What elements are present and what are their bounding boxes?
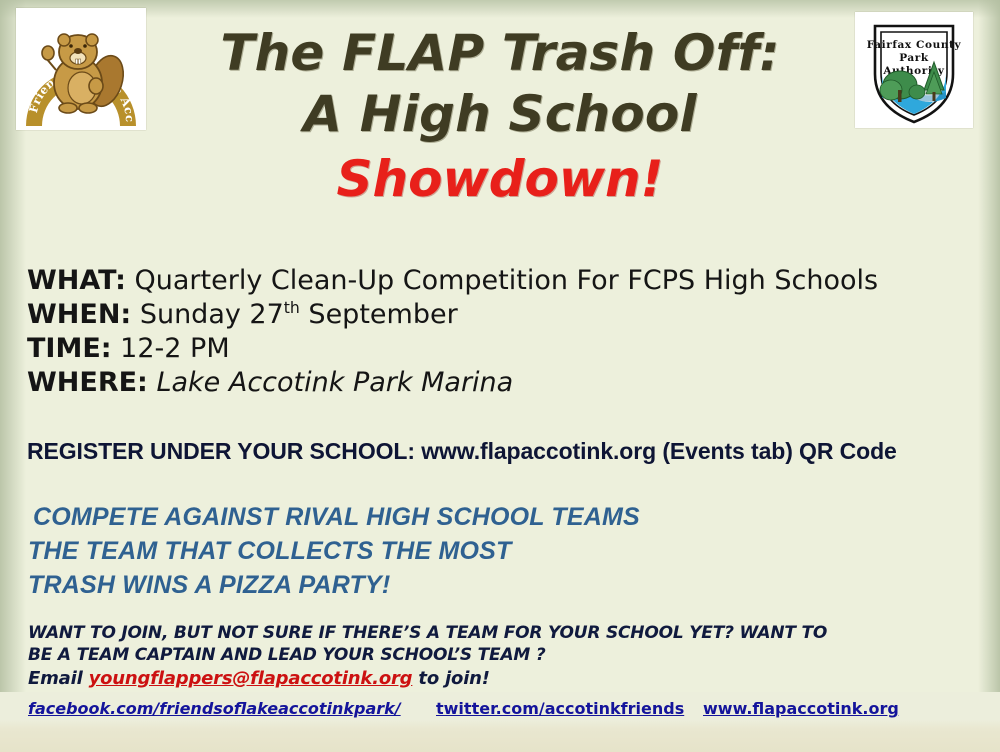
join-email-line: Email youngflappers@flapaccotink.org to … <box>28 667 978 691</box>
registration-instructions: REGISTER UNDER YOUR SCHOOL: www.flapacco… <box>27 437 897 465</box>
compete-line-1: COMPETE AGAINST RIVAL HIGH SCHOOL TEAMS <box>28 500 968 534</box>
detail-value-when-date: Sunday 27 <box>140 299 284 330</box>
title-line-2: A High School <box>0 83 1000 146</box>
compete-line-2: THE TEAM THAT COLLECTS THE MOST <box>28 534 968 568</box>
twitter-link[interactable]: twitter.com/accotinkfriends <box>436 698 684 720</box>
detail-value-where: Lake Accotink Park Marina <box>156 367 513 398</box>
email-link[interactable]: youngflappers@flapaccotink.org <box>89 668 413 689</box>
website-link[interactable]: www.flapaccotink.org <box>703 698 899 720</box>
detail-row-time: TIME: 12-2 PM <box>27 332 977 366</box>
join-callout: WANT TO JOIN, BUT NOT SURE IF THERE’S A … <box>28 622 978 691</box>
detail-value-what: Quarterly Clean-Up Competition For FCPS … <box>135 265 879 296</box>
detail-label-when: WHEN: <box>27 299 131 330</box>
detail-label-where: WHERE: <box>27 367 148 398</box>
competition-callout: COMPETE AGAINST RIVAL HIGH SCHOOL TEAMS … <box>28 500 968 602</box>
join-email-prefix: Email <box>28 668 89 689</box>
facebook-link[interactable]: facebook.com/friendsoflakeaccotinkpark/ <box>28 698 401 720</box>
title-block: The FLAP Trash Off: A High School Showdo… <box>0 22 1000 210</box>
join-line-1: WANT TO JOIN, BUT NOT SURE IF THERE’S A … <box>28 622 978 644</box>
detail-value-when-ordinal: th <box>284 298 300 317</box>
title-line-showdown: Showdown! <box>0 148 1000 210</box>
join-email-suffix: to join! <box>412 668 489 689</box>
compete-line-3: TRASH WINS A PIZZA PARTY! <box>28 568 968 602</box>
detail-value-time: 12-2 PM <box>120 333 229 364</box>
event-details-list: WHAT: Quarterly Clean-Up Competition For… <box>27 264 977 400</box>
detail-row-where: WHERE: Lake Accotink Park Marina <box>27 366 977 400</box>
detail-label-time: TIME: <box>27 333 112 364</box>
detail-label-what: WHAT: <box>27 265 126 296</box>
event-flyer: Friends of Lake Accotink Park <box>0 0 1000 752</box>
title-line-1: The FLAP Trash Off: <box>0 22 1000 85</box>
detail-value-when-month: September <box>300 299 458 330</box>
footer-links: facebook.com/friendsoflakeaccotinkpark/ … <box>0 698 1000 726</box>
detail-row-when: WHEN: Sunday 27th September <box>27 298 977 332</box>
join-line-2: BE A TEAM CAPTAIN AND LEAD YOUR SCHOOL’S… <box>28 644 978 666</box>
detail-row-what: WHAT: Quarterly Clean-Up Competition For… <box>27 264 977 298</box>
